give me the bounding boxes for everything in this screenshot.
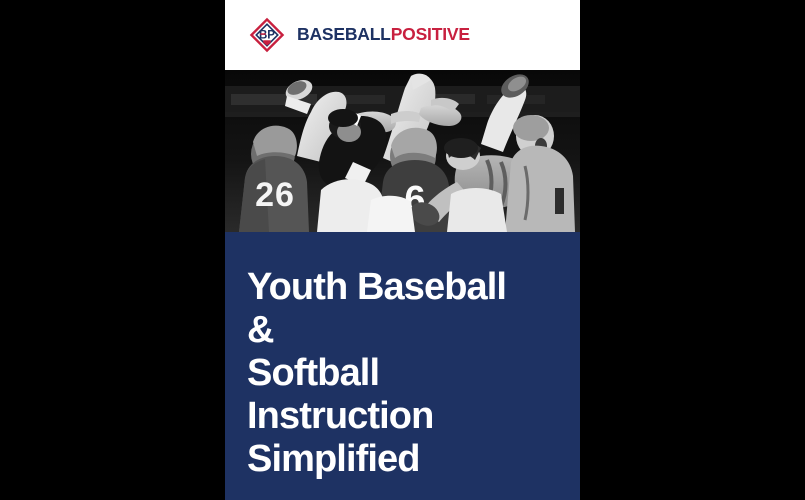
svg-text:BP: BP	[259, 29, 275, 41]
logo-lockup[interactable]: BP BASEBALLPOSITIVE	[247, 15, 470, 55]
screenshot-root: BP BASEBALLPOSITIVE	[0, 0, 805, 500]
baseball-positive-diamond-logo: BP	[247, 15, 287, 55]
headline-block: Youth Baseball & Softball Instruction Si…	[225, 232, 580, 500]
wordmark-positive: POSITIVE	[391, 24, 470, 44]
hero-photo: 26 6	[225, 70, 580, 232]
wordmark-baseball: BASEBALL	[297, 24, 391, 44]
site-wordmark: BASEBALLPOSITIVE	[297, 26, 470, 44]
svg-text:26: 26	[255, 176, 295, 214]
site-header: BP BASEBALLPOSITIVE	[225, 0, 580, 70]
page-title: Youth Baseball & Softball Instruction Si…	[247, 266, 560, 481]
content-panel: BP BASEBALLPOSITIVE	[225, 0, 580, 500]
